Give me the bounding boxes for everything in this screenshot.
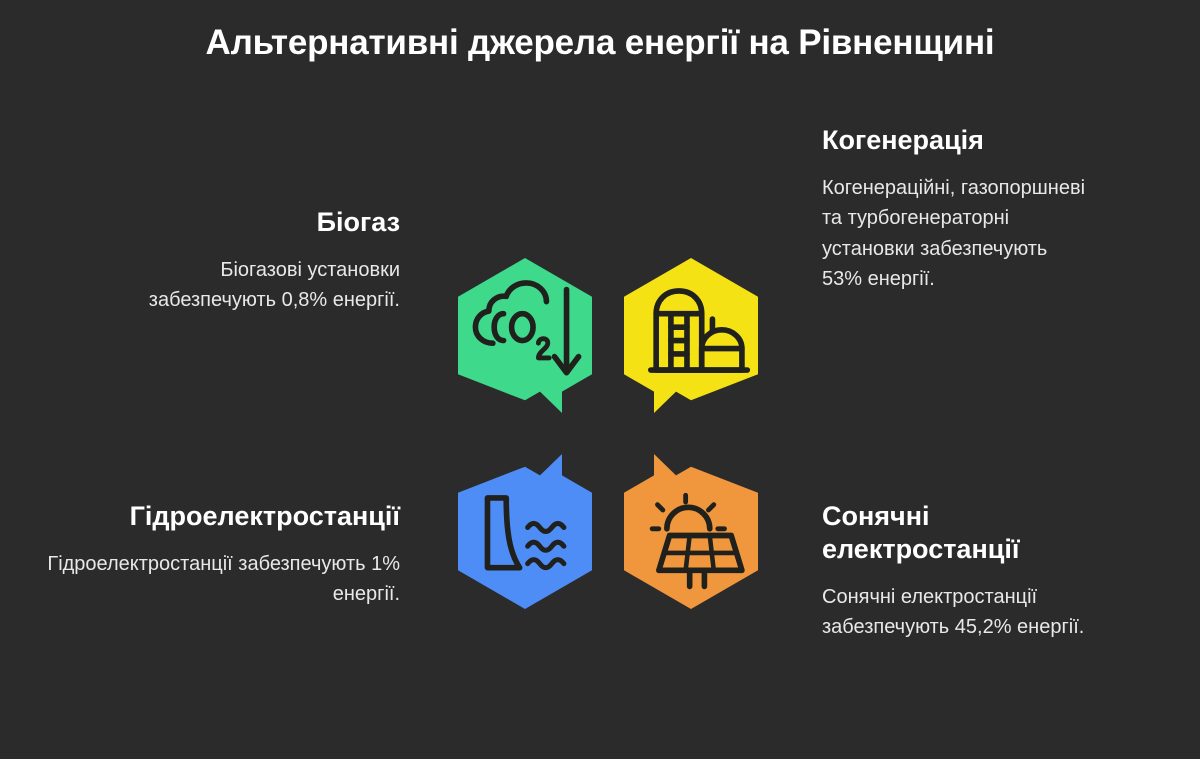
page-title: Альтернативні джерела енергії на Рівненщ…: [0, 22, 1200, 64]
heading-hydro: Гідроелектростанції: [40, 500, 400, 533]
body-biogas: Біогазові установки забезпечують 0,8% ен…: [100, 255, 400, 316]
heading-solar: Сонячні електростанції: [822, 500, 1094, 566]
info-block-cogeneration: Когенерація Когенераційні, газопоршневі …: [822, 124, 1090, 295]
hex-tile-solar[interactable]: [624, 454, 758, 609]
hex-shape-hydro: [458, 454, 592, 609]
body-cogeneration: Когенераційні, газопоршневі та турбогене…: [822, 173, 1090, 295]
body-hydro: Гідроелектростанції забезпечують 1% енер…: [40, 549, 400, 610]
heading-cogeneration: Когенерація: [822, 124, 1090, 157]
info-block-solar: Сонячні електростанції Сонячні електрост…: [822, 500, 1094, 643]
body-solar: Сонячні електростанції забезпечують 45,2…: [822, 582, 1094, 643]
heading-biogas: Біогаз: [100, 206, 400, 239]
hex-shape-cogeneration: [624, 258, 758, 413]
hexagon-icon-cluster: [452, 258, 770, 618]
info-block-biogas: Біогаз Біогазові установки забезпечують …: [100, 206, 400, 316]
hex-shape-biogas: [458, 258, 592, 413]
hex-tile-biogas[interactable]: [458, 258, 592, 413]
hex-shape-solar: [624, 454, 758, 609]
hex-tile-hydro[interactable]: [458, 454, 592, 609]
hex-tile-cogeneration[interactable]: [624, 258, 758, 413]
info-block-hydro: Гідроелектростанції Гідроелектростанції …: [40, 500, 400, 610]
